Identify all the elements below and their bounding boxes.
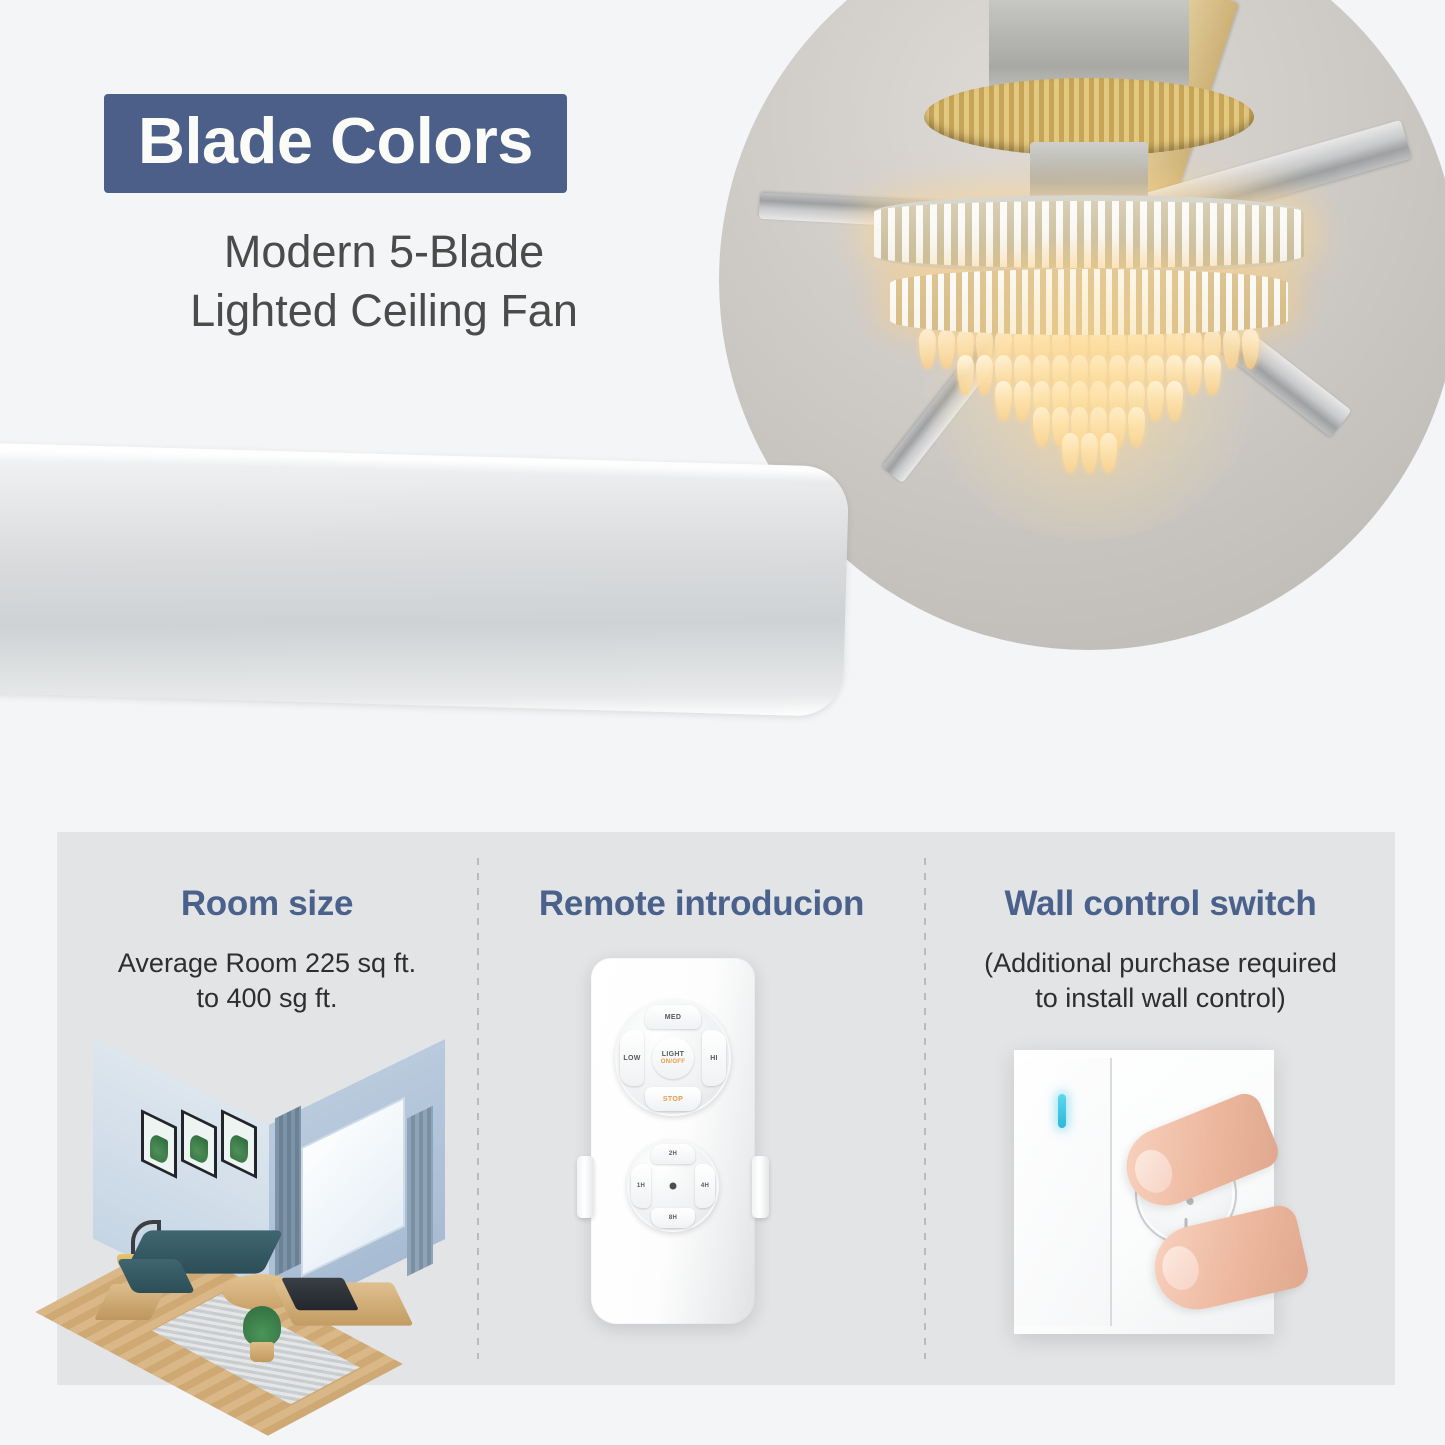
wall-switch-title: Wall control switch (926, 884, 1395, 924)
wall-desc-line-2: to install wall control) (938, 981, 1383, 1016)
page-title: Blade Colors (138, 104, 533, 177)
crystal-light-kit (874, 195, 1304, 473)
living-room-illustration (89, 1060, 445, 1350)
room-plant (239, 1306, 285, 1362)
remote-button-light-onoff[interactable]: LIGHT ON/OFF (652, 1037, 694, 1079)
led-indicator-icon (1058, 1094, 1066, 1128)
subtitle-line-2: Lighted Ceiling Fan (104, 281, 664, 340)
hand-pointing (1102, 1114, 1292, 1344)
middle-finger (1146, 1202, 1311, 1318)
remote-speed-pad: MED LOW HI STOP LIGHT ON/OFF (615, 1000, 731, 1116)
crystal-band-lower (890, 269, 1288, 335)
remote-timer-8h[interactable]: 8H (651, 1208, 695, 1228)
remote-control: MED LOW HI STOP LIGHT ON/OFF 2H 1H 4H 8H (591, 958, 755, 1324)
remote-button-hi[interactable]: HI (702, 1030, 726, 1086)
remote-button-stop[interactable]: STOP (645, 1087, 701, 1111)
fingernail (1158, 1243, 1203, 1294)
subtitle-line-1: Modern 5-Blade (104, 222, 664, 281)
room-curtain (275, 1106, 301, 1277)
remote-timer-pad: 2H 1H 4H 8H (627, 1140, 719, 1232)
remote-button-low[interactable]: LOW (620, 1030, 644, 1086)
room-curtain (407, 1106, 433, 1277)
remote-timer-1h[interactable]: 1H (631, 1164, 651, 1208)
wall-switch-description: (Additional purchase required to install… (926, 946, 1395, 1016)
fingernail (1129, 1144, 1179, 1198)
feature-panel: Room size Average Room 225 sq ft. to 400… (57, 832, 1395, 1385)
room-size-line-2: to 400 sg ft. (69, 981, 465, 1016)
index-finger (1115, 1089, 1283, 1218)
remote-timer-4h[interactable]: 4H (695, 1164, 715, 1208)
wall-desc-line-1: (Additional purchase required (938, 946, 1383, 981)
room-size-title: Room size (57, 884, 477, 924)
feature-column-wall-switch: Wall control switch (Additional purchase… (926, 832, 1395, 1385)
light-label-line1: LIGHT (662, 1051, 685, 1059)
feature-column-remote: Remote introducion MED LOW HI STOP LIGHT… (479, 832, 924, 1385)
remote-title: Remote introducion (479, 884, 924, 924)
room-size-line-1: Average Room 225 sq ft. (69, 946, 465, 981)
feature-column-room-size: Room size Average Room 225 sq ft. to 400… (57, 832, 477, 1385)
remote-clip-left (577, 1156, 594, 1218)
blade-color-swatch (0, 443, 849, 717)
remote-clip-right (752, 1156, 769, 1218)
crystal-band-upper (874, 195, 1304, 273)
crystal-row (874, 433, 1304, 473)
remote-timer-2h[interactable]: 2H (651, 1144, 695, 1164)
light-label-line2: ON/OFF (661, 1059, 685, 1066)
room-size-description: Average Room 225 sq ft. to 400 sg ft. (57, 946, 477, 1016)
remote-button-med[interactable]: MED (645, 1005, 701, 1029)
remote-timer-center-dot[interactable] (670, 1183, 677, 1190)
product-subtitle: Modern 5-Blade Lighted Ceiling Fan (104, 222, 664, 341)
wall-control-switch (1014, 1050, 1274, 1334)
page-title-badge: Blade Colors (104, 94, 567, 193)
wall-switch-rocker[interactable] (1014, 1058, 1112, 1326)
